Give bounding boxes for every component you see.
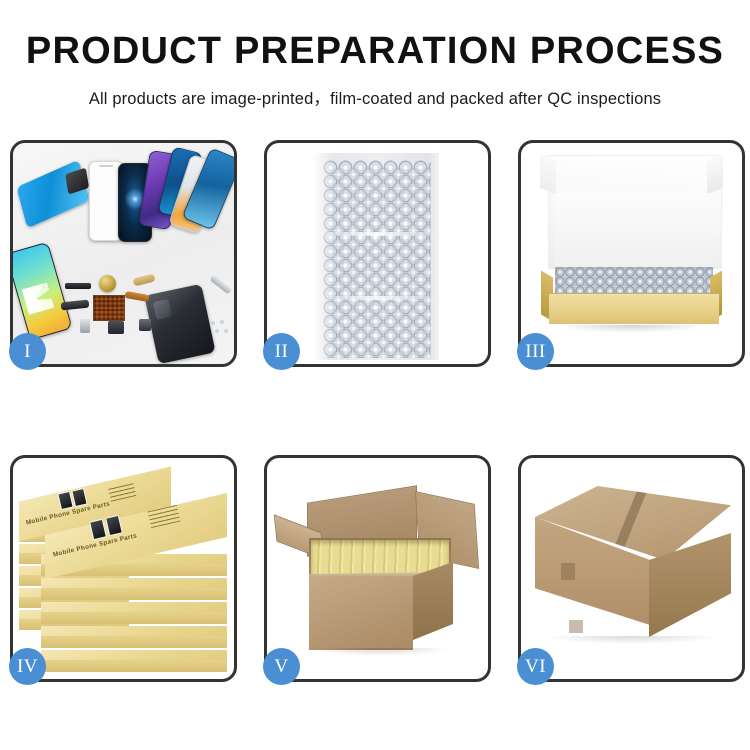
step-panel-2: II [264,140,491,367]
box-lid-right-flap [707,154,723,194]
battery-connector-icon [65,283,91,289]
step-2-image [267,143,488,364]
bubble-wrapped-product-icon [555,267,713,296]
camera-module-icon [80,319,90,333]
drop-shadow [555,325,708,333]
step-panel-5: V [264,455,491,682]
box-lid-left-flap [540,154,556,194]
box-top-face [41,602,227,612]
step-panel-6: VI [518,455,745,682]
step-3-image [521,143,742,364]
box-front-face [41,588,227,600]
step-6-image [521,458,742,679]
step-panel-3: III [518,140,745,367]
foam-sheet-icon [555,193,713,269]
step-badge-6: VI [517,648,554,685]
drop-shadow [545,636,718,644]
step-4-image: Mobile Phone Spare Parts Mobile Phone Sp… [13,458,234,679]
screw-mat-icon [93,295,125,321]
bubble-wrap-bag-icon [315,153,439,360]
chip-icon [139,319,151,331]
box-front-face [41,660,227,672]
step-badge-3: III [517,333,554,370]
step-badge-2: II [263,333,300,370]
screws-icon [209,319,231,337]
carton-seam-upper [561,563,575,580]
page-subtitle: All products are image-printed，film-coat… [0,85,750,109]
box-front-face [41,612,227,624]
retail-box [41,578,227,600]
carton-seam-lower [569,620,583,633]
plastic-glare [309,153,335,360]
kraft-box-front [549,293,719,324]
box-top-face [41,578,227,588]
page-title: PRODUCT PREPARATION PROCESS [0,32,750,72]
speaker-module-icon [108,321,124,334]
header: PRODUCT PREPARATION PROCESS All products… [0,0,750,109]
drop-shadow [311,648,448,656]
bubble-pattern-back-icon [331,167,432,358]
step-badge-5: V [263,648,300,685]
product-preparation-infographic: PRODUCT PREPARATION PROCESS All products… [0,0,750,750]
step-badge-1: I [9,333,46,370]
retail-box [41,602,227,624]
step-panel-4: Mobile Phone Spare Parts Mobile Phone Sp… [10,455,237,682]
box-top-face [41,626,227,636]
retail-box [41,626,227,648]
step-5-image [267,458,488,679]
carton-front-face [309,576,413,650]
step-1-image [13,143,234,364]
box-top-face [41,650,227,660]
box-front-face [41,636,227,648]
step-badge-4: IV [9,648,46,685]
retail-box [41,650,227,672]
crack-lines-icon [22,283,54,315]
process-steps-grid: I II [10,140,740,682]
step-panel-1: I [10,140,237,367]
vibration-motor-icon [99,275,116,292]
